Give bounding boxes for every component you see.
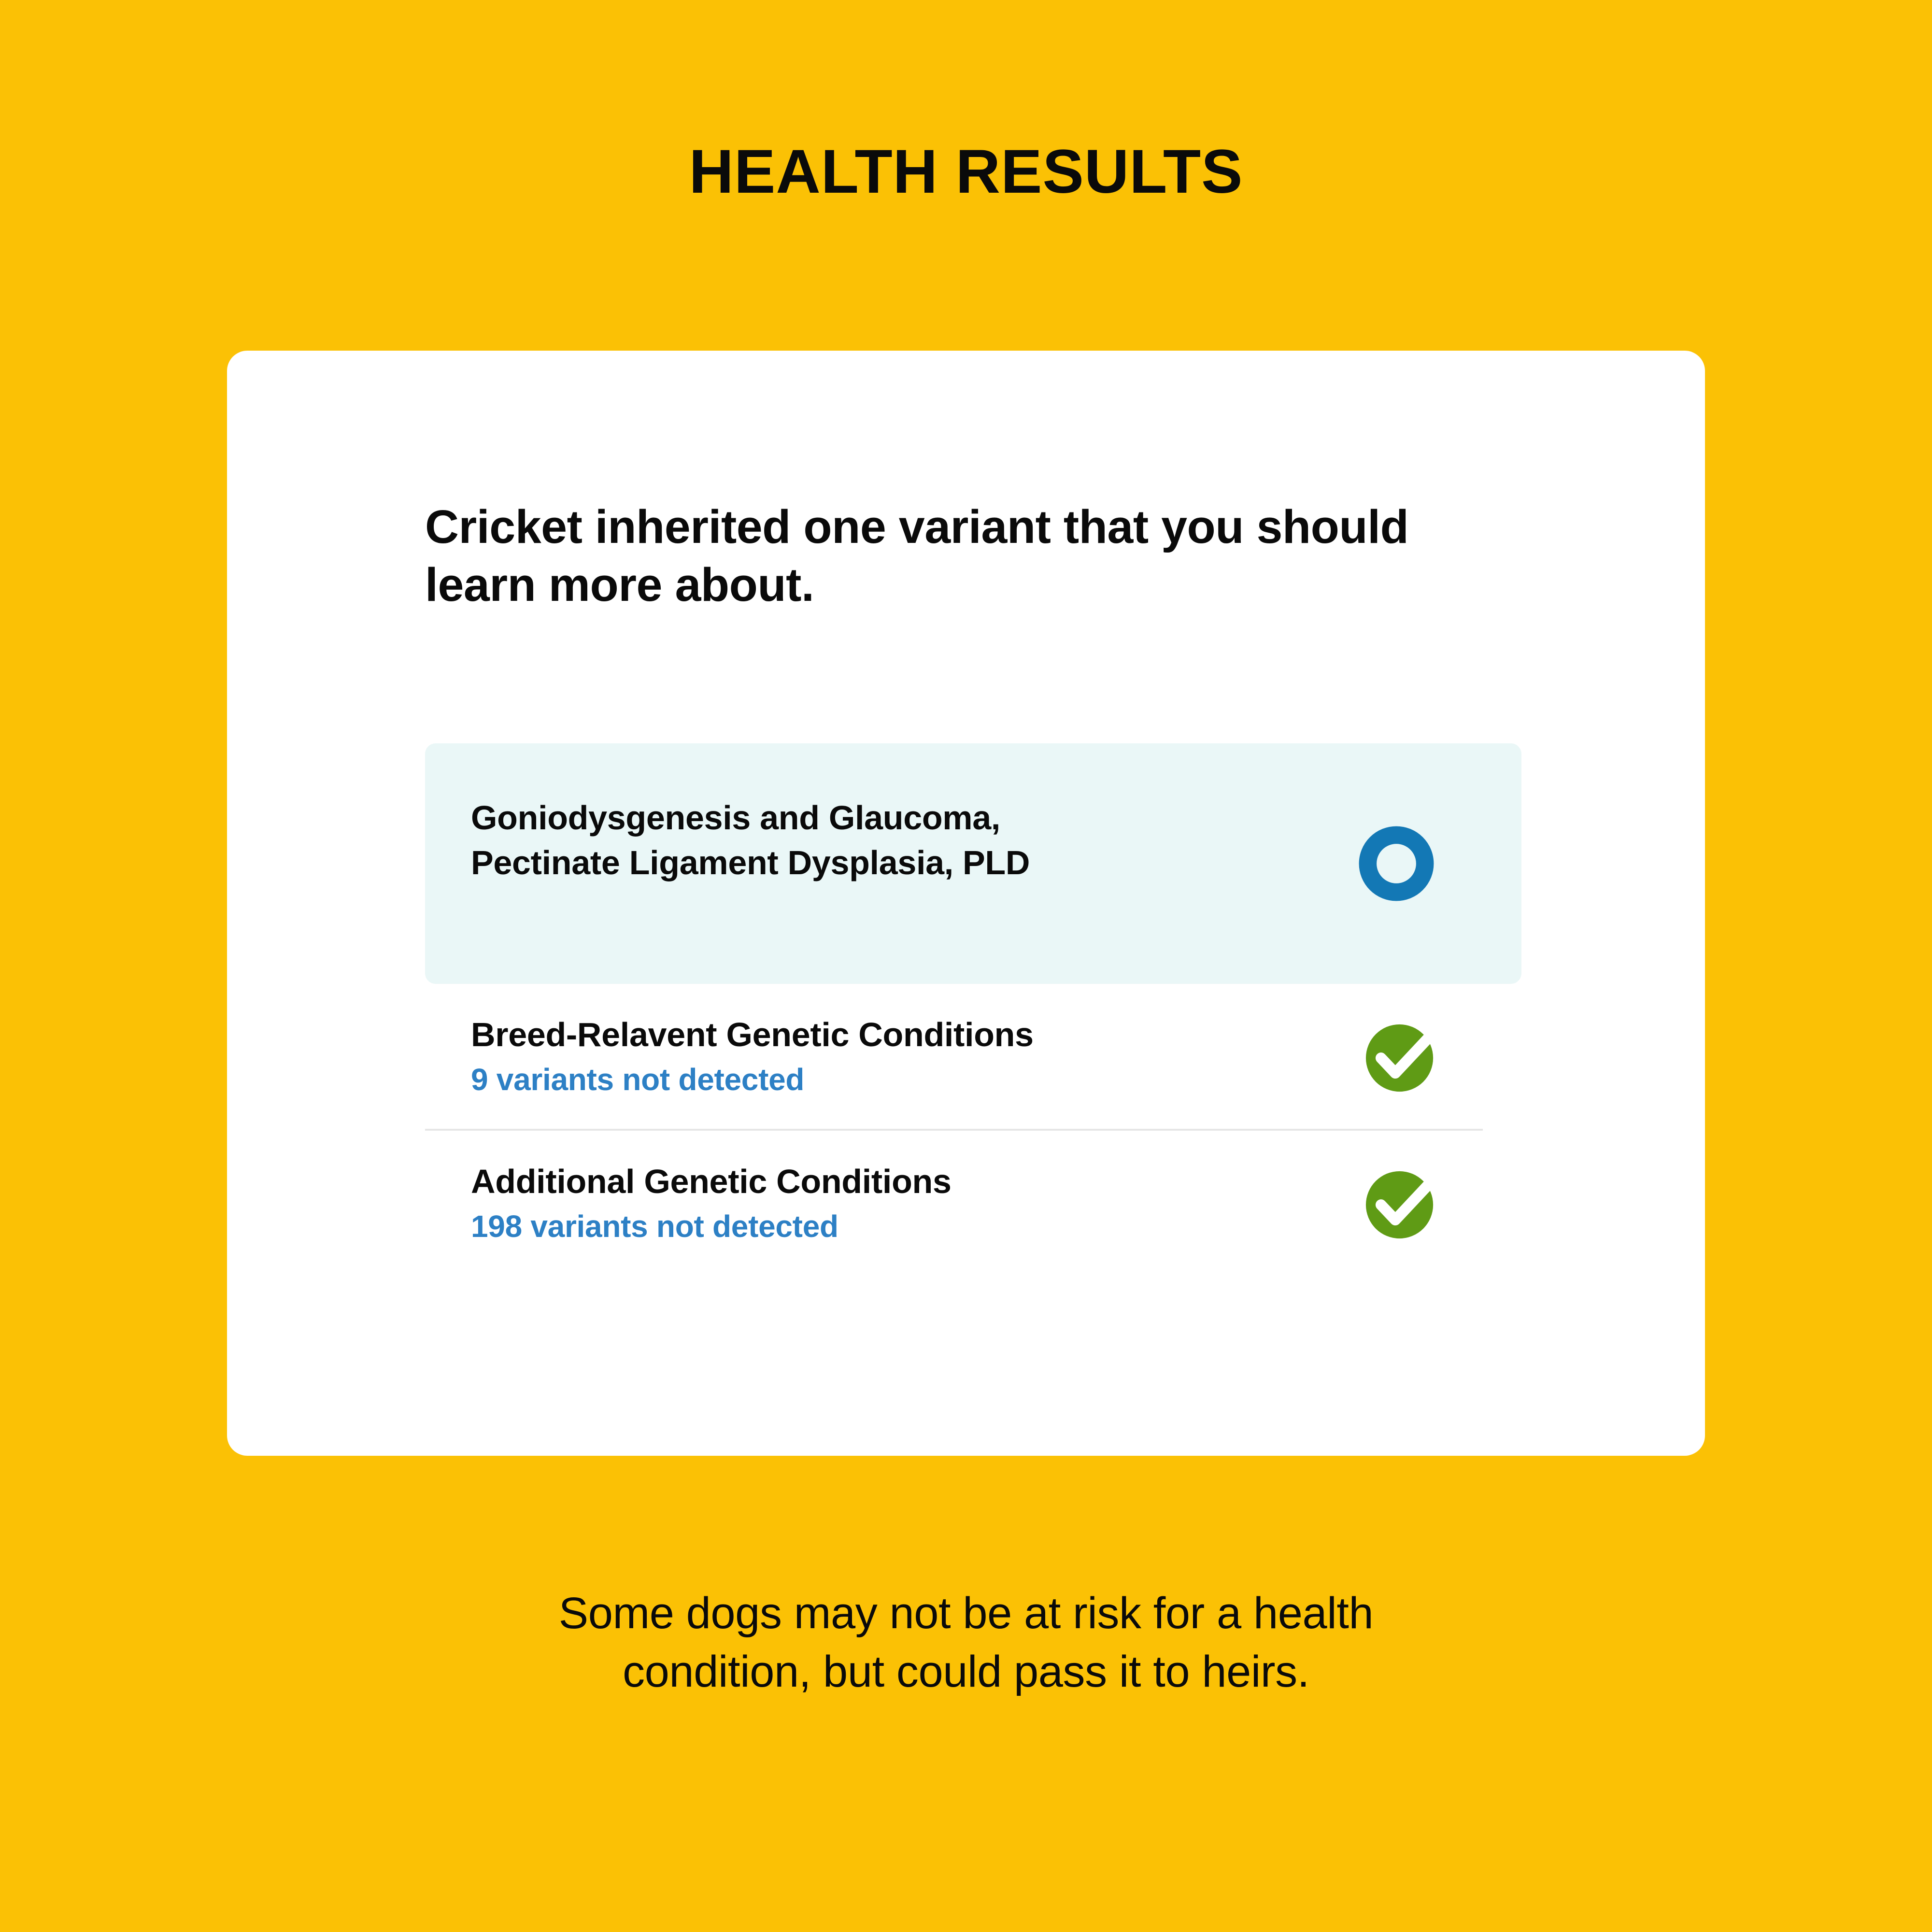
conditions-list: Goniodysgenesis and Glaucoma, Pectinate …: [425, 743, 1526, 1276]
green-check-circle-icon: [1359, 1014, 1443, 1098]
green-check-circle-icon: [1359, 1161, 1443, 1245]
health-results-page: HEALTH RESULTS Cricket inherited one var…: [0, 0, 1932, 1932]
health-results-card: Cricket inherited one variant that you s…: [227, 351, 1705, 1456]
card-heading: Cricket inherited one variant that you s…: [425, 498, 1502, 614]
condition-label: Goniodysgenesis and Glaucoma, Pectinate …: [471, 796, 1389, 885]
footer-caption-line1: Some dogs may not be at risk for a healt…: [0, 1584, 1932, 1643]
condition-row-goniodysgenesis[interactable]: Goniodysgenesis and Glaucoma, Pectinate …: [425, 743, 1521, 984]
condition-label-line1: Goniodysgenesis and Glaucoma,: [471, 799, 1000, 837]
condition-label-line2: Pectinate Ligament Dysplasia, PLD: [471, 844, 1030, 881]
footer-caption-line2: condition, but could pass it to heirs.: [0, 1643, 1932, 1701]
footer-caption: Some dogs may not be at risk for a healt…: [0, 1584, 1932, 1702]
condition-row-additional[interactable]: Additional Genetic Conditions 198 varian…: [425, 1131, 1521, 1276]
condition-row-breed-relevant[interactable]: Breed-Relavent Genetic Conditions 9 vari…: [425, 984, 1521, 1129]
blue-ring-icon: [1354, 822, 1438, 906]
page-title: HEALTH RESULTS: [0, 141, 1932, 203]
